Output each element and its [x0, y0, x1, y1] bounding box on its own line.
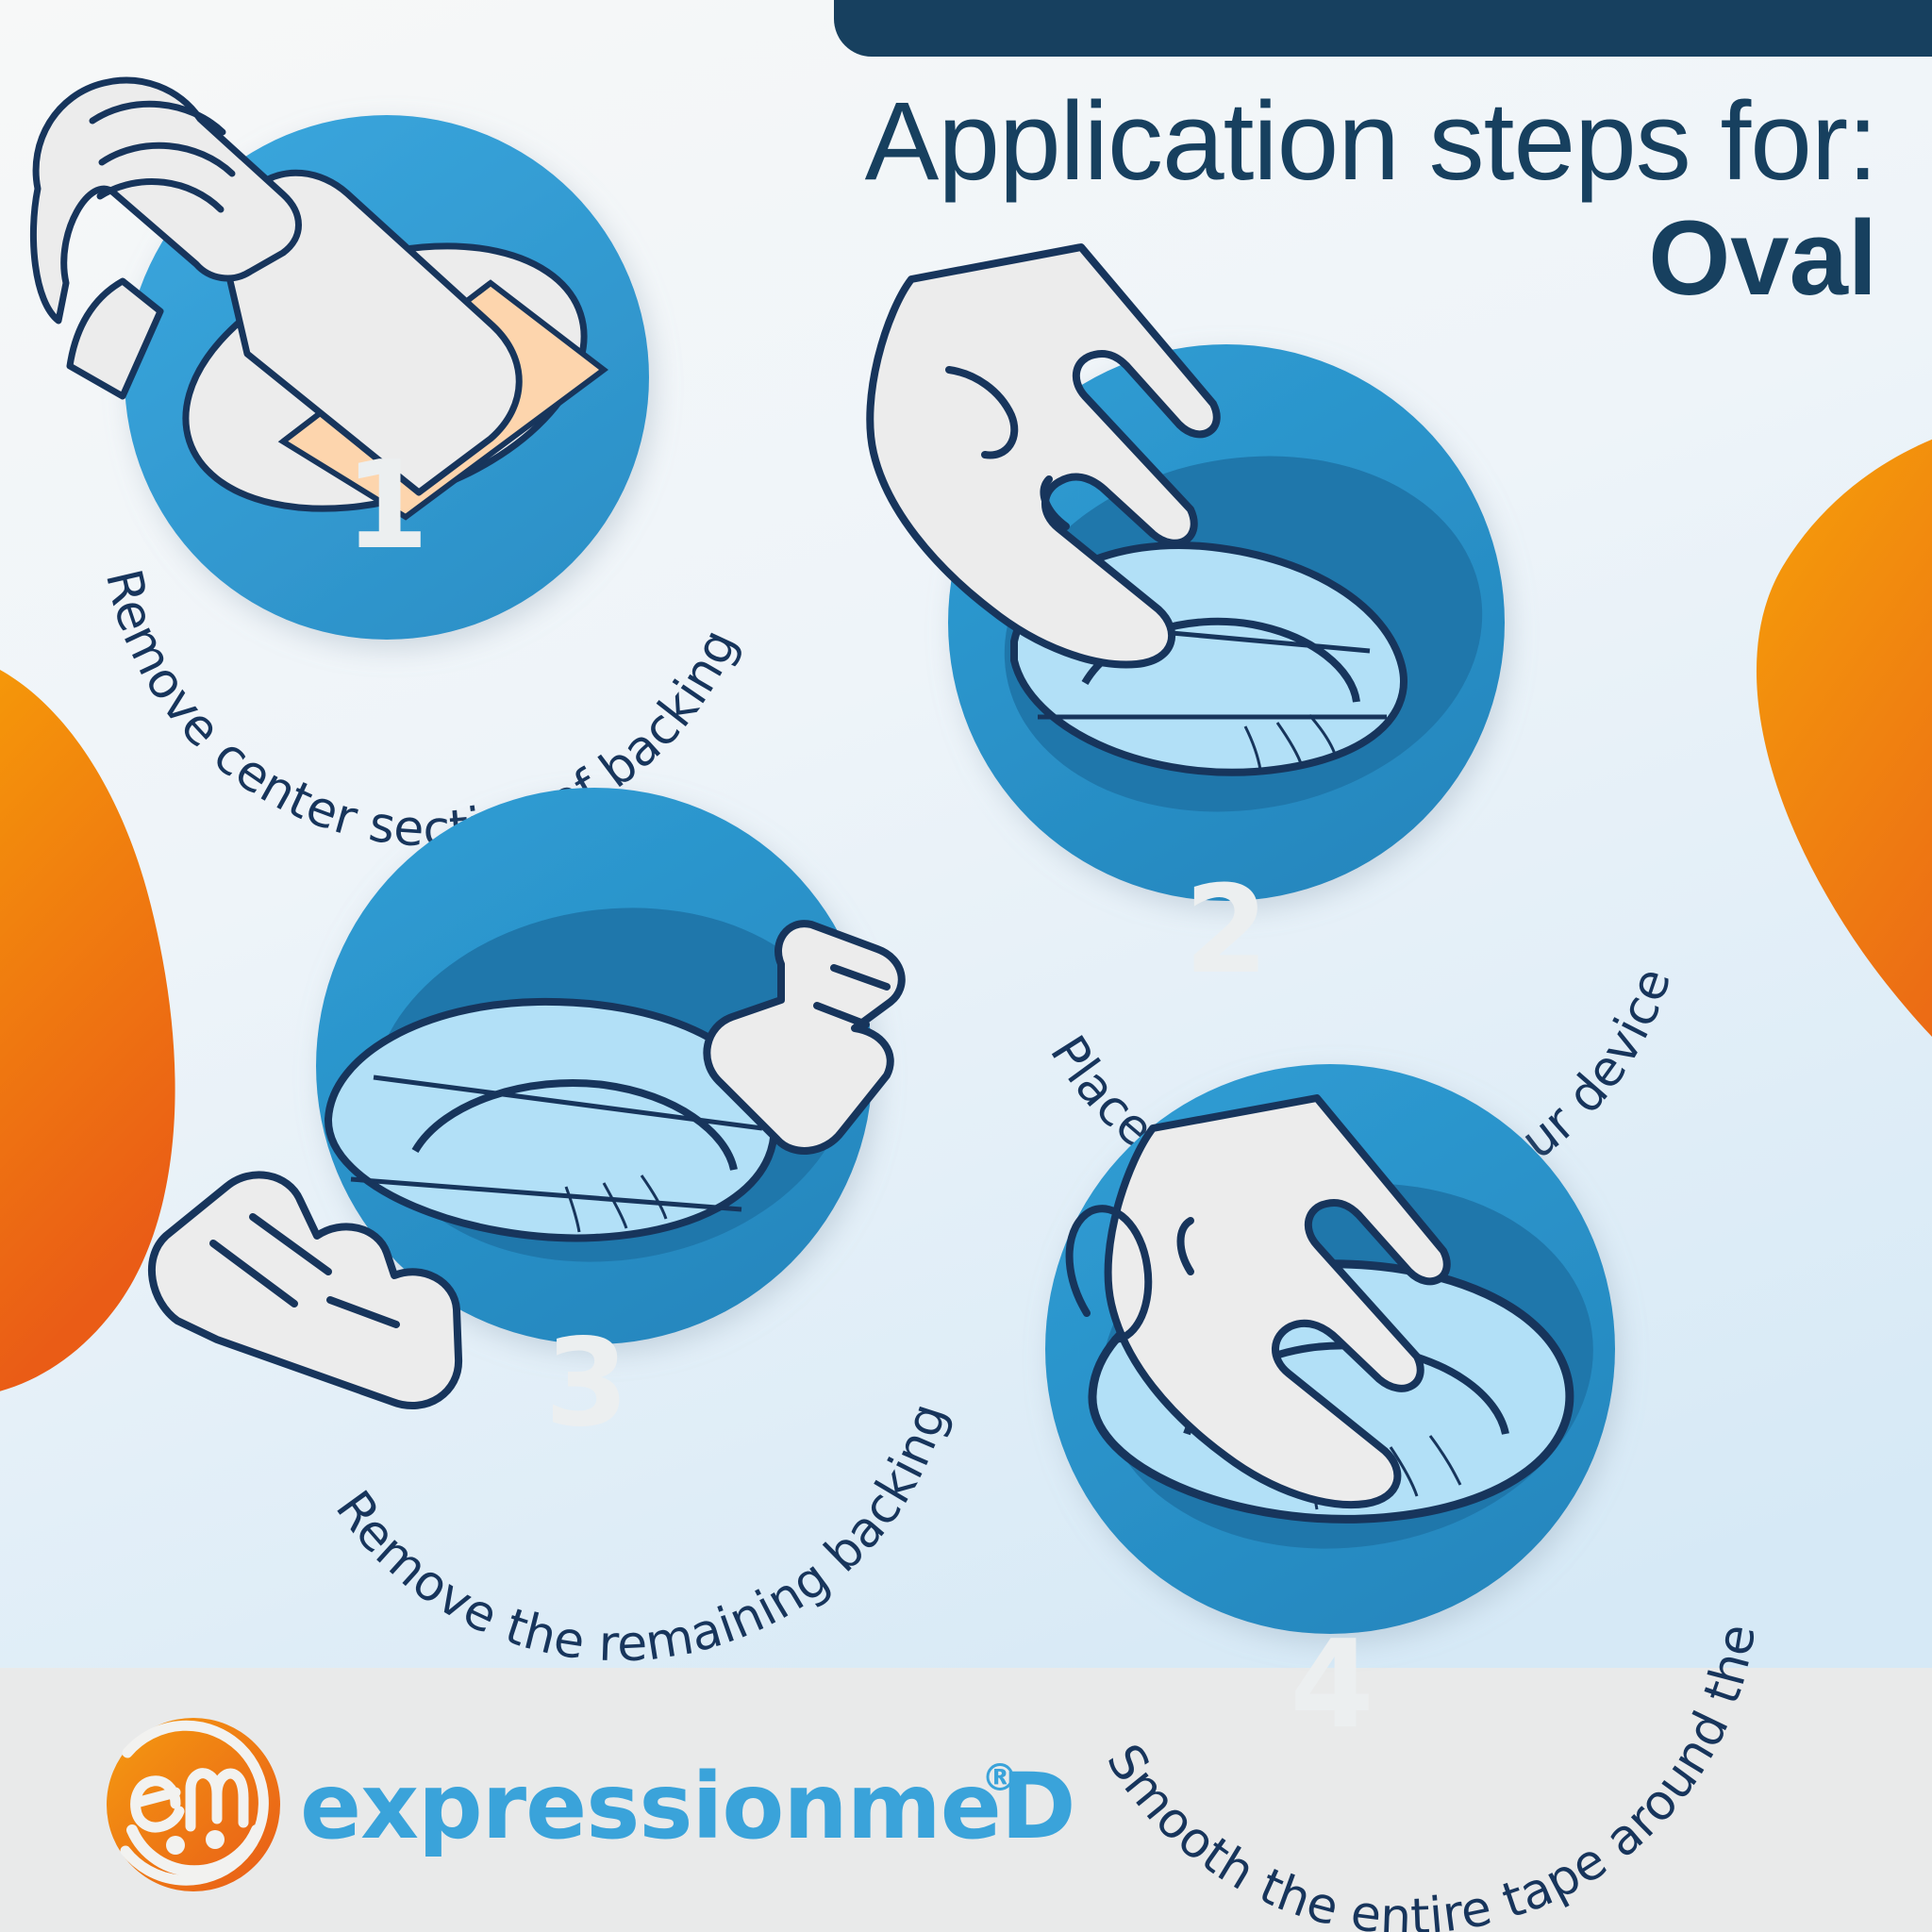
page-title-line1: Application steps for:: [865, 79, 1877, 204]
step-4-number: 4: [1290, 1615, 1374, 1756]
em-smiley-icon: [107, 1718, 280, 1891]
header-navy-bar-rounded: [834, 0, 1932, 57]
poster-artboard: Application steps for: Oval 1 Remove cen…: [0, 0, 1932, 1932]
logo-wordmark: expressionmeD: [300, 1754, 1075, 1859]
logo-registered-mark: ®: [981, 1757, 1019, 1800]
step-1-number: 1: [344, 436, 428, 576]
step-2-number: 2: [1184, 860, 1268, 1001]
infographic-canvas: Application steps for: Oval 1 Remove cen…: [0, 0, 1932, 1932]
step-3-number: 3: [544, 1313, 628, 1454]
page-title-line2: Oval: [1648, 199, 1877, 317]
